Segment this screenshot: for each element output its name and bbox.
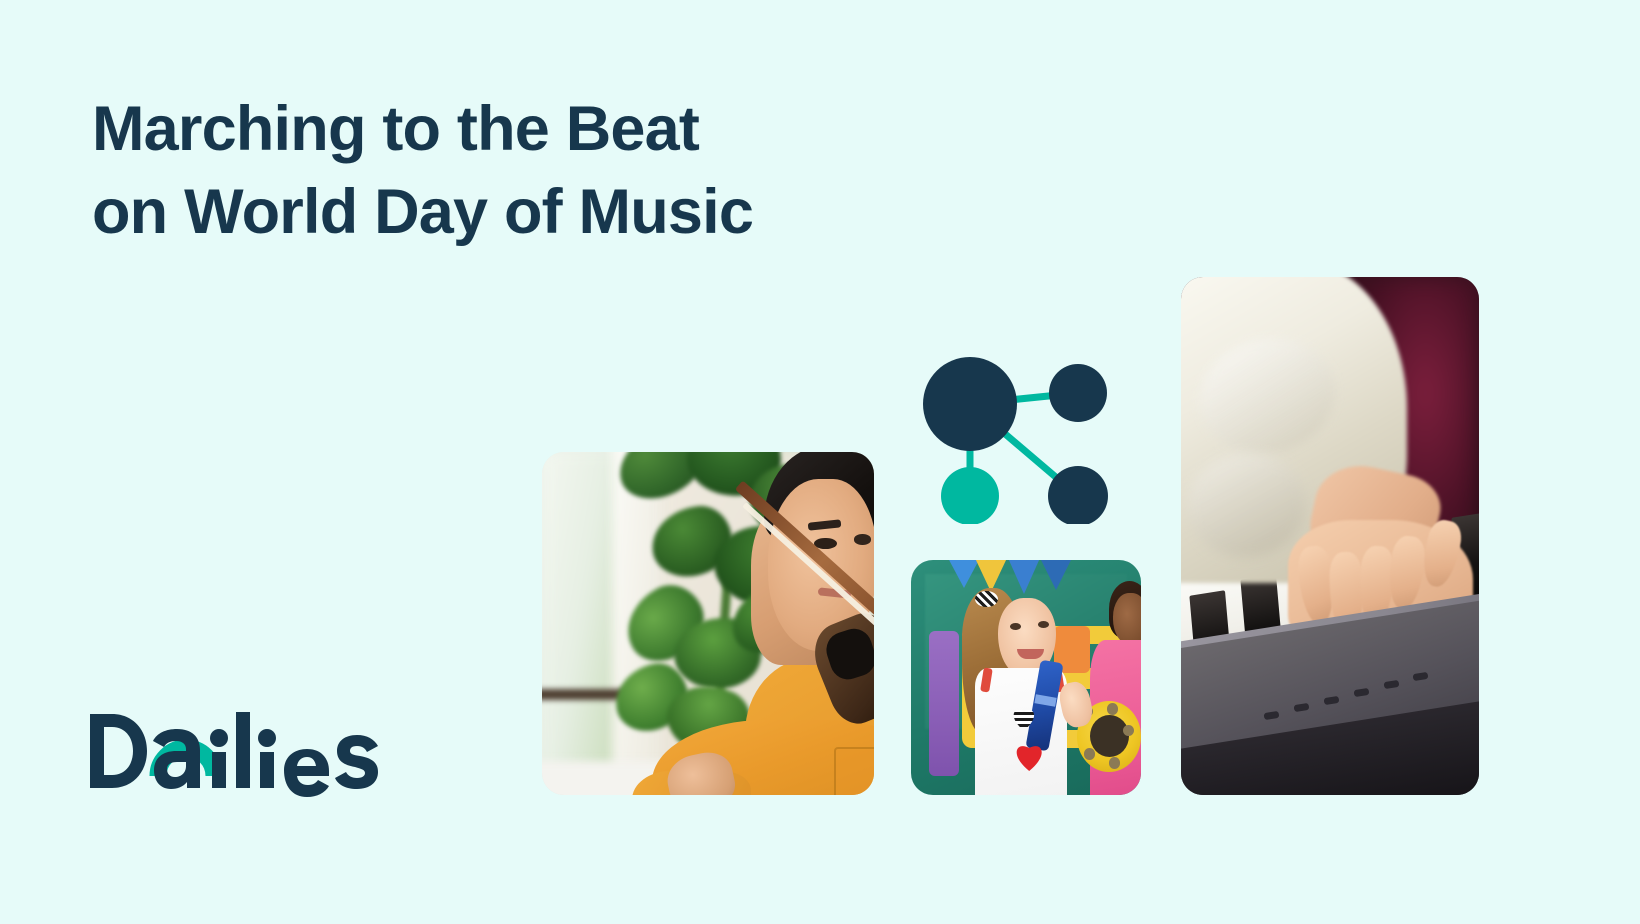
node-top-right xyxy=(1049,364,1107,422)
banner-canvas: Marching to the Beat on World Day of Mus… xyxy=(0,0,1640,924)
node-bottom-left xyxy=(941,467,999,524)
photo-kids-scene xyxy=(911,560,1141,795)
page-title: Marching to the Beat on World Day of Mus… xyxy=(92,88,992,254)
node-bottom-right xyxy=(1048,466,1108,524)
node-large xyxy=(923,357,1017,451)
photo-violin[interactable] xyxy=(542,452,874,795)
photo-violin-scene xyxy=(542,452,874,795)
network-nodes-icon xyxy=(920,348,1112,524)
photo-piano[interactable] xyxy=(1181,277,1479,795)
photo-piano-scene xyxy=(1181,277,1479,795)
page-title-line-1: Marching to the Beat xyxy=(92,88,992,171)
page-title-line-2: on World Day of Music xyxy=(92,171,992,254)
dailies-logo[interactable] xyxy=(88,698,388,803)
photo-kids-instruments[interactable] xyxy=(911,560,1141,795)
